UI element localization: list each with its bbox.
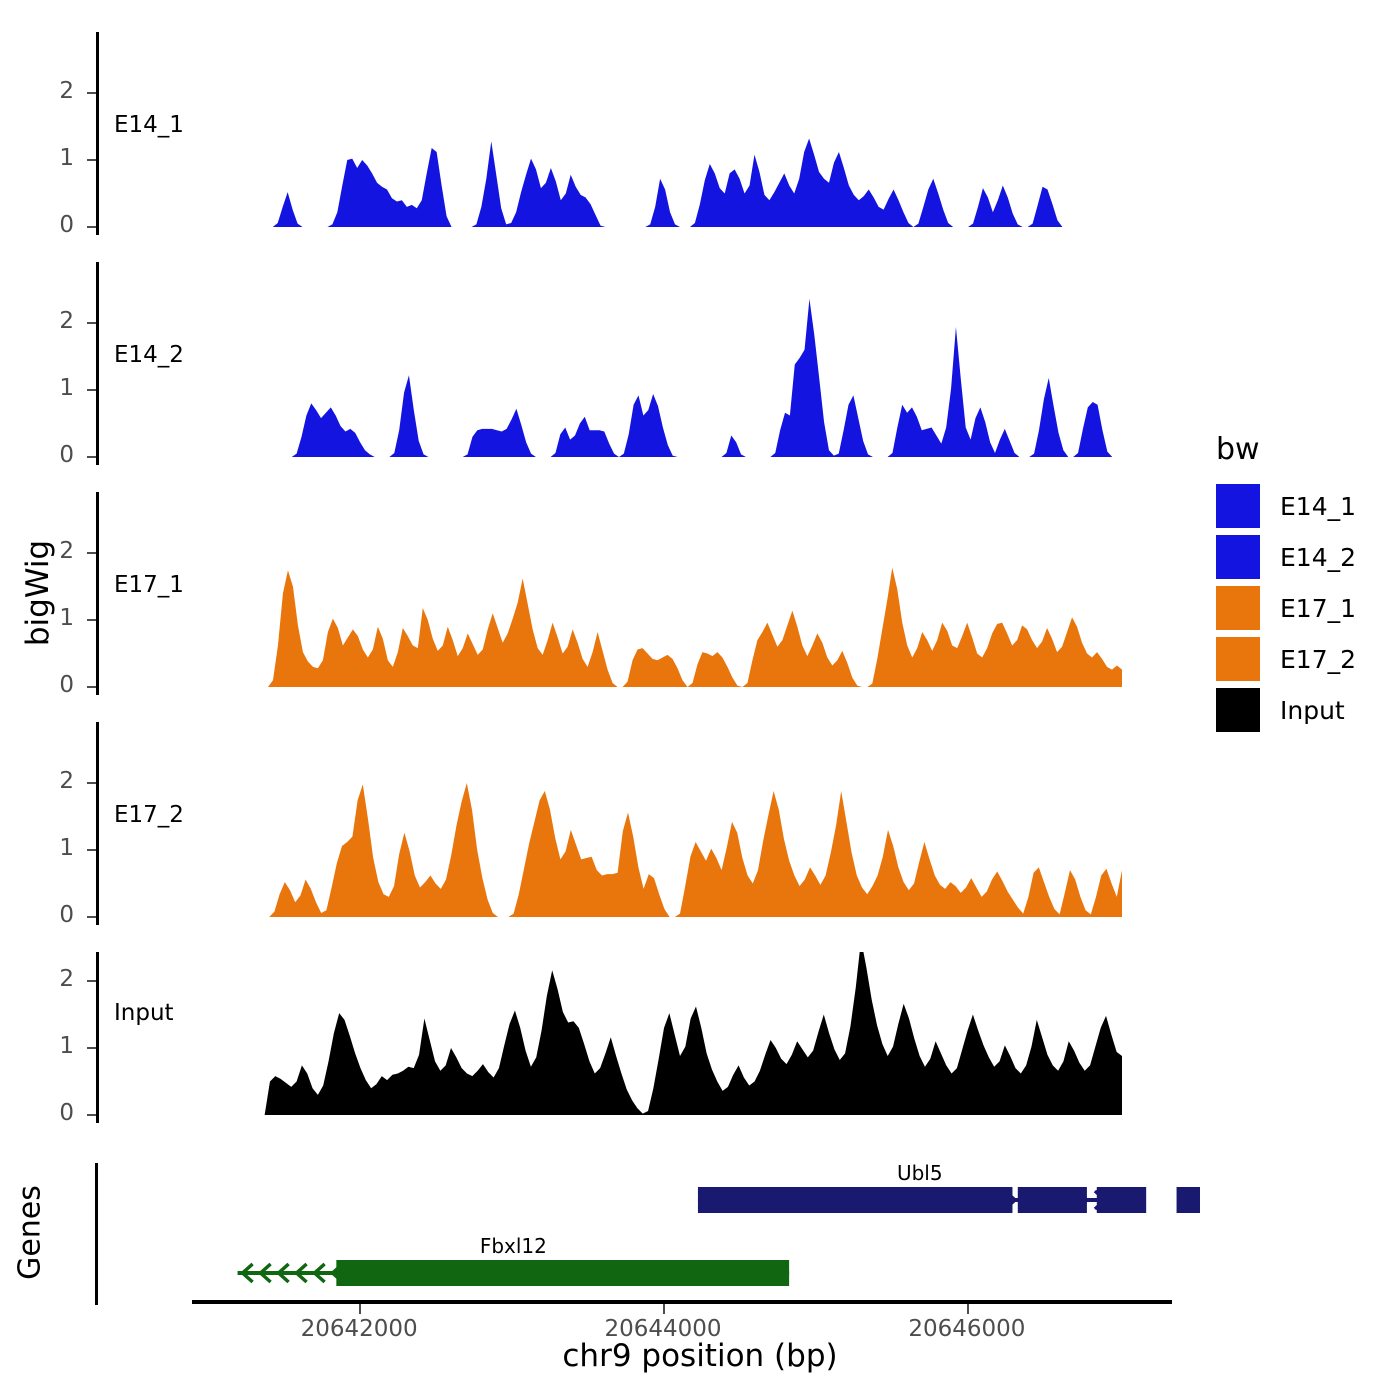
genes-svg: Ubl5Fbxl12: [0, 1155, 1200, 1305]
signal-track-input: [0, 952, 1200, 1123]
legend-item-e17_1[interactable]: E17_1: [1216, 586, 1356, 630]
gene-label-fbxl12: Fbxl12: [480, 1234, 547, 1258]
legend-label-e14_2: E14_2: [1280, 543, 1356, 572]
legend-swatch-e17_1: [1216, 586, 1260, 630]
signal-track-e14_2: [0, 262, 1200, 465]
x-axis-line: [192, 1300, 1172, 1304]
gene-label-ubl5: Ubl5: [897, 1161, 943, 1185]
legend-swatch-e14_1: [1216, 484, 1260, 528]
signal-track-e17_2: [0, 722, 1200, 925]
x-tick-20646000: [967, 1304, 969, 1314]
legend-item-input[interactable]: Input: [1216, 688, 1345, 732]
x-tick-20644000: [663, 1304, 665, 1314]
gene-exon-ubl5-4: [1177, 1187, 1200, 1213]
gene-exon-ubl5-1: [698, 1187, 1013, 1213]
bigwig-panel-e14_2: 012E14_2: [0, 262, 1200, 465]
bigwig-panel-e17_2: 012E17_2: [0, 722, 1200, 925]
legend-swatch-e14_2: [1216, 535, 1260, 579]
legend-label-input: Input: [1280, 696, 1345, 725]
genes-panel: Ubl5Fbxl12: [0, 1155, 1200, 1305]
bigwig-panel-e17_1: 012E17_1: [0, 492, 1200, 695]
legend-label-e17_1: E17_1: [1280, 594, 1356, 623]
legend-item-e17_2[interactable]: E17_2: [1216, 637, 1356, 681]
bigwig-panel-input: 012Input: [0, 952, 1200, 1123]
legend-label-e14_1: E14_1: [1280, 492, 1356, 521]
bigwig-panel-e14_1: 012E14_1: [0, 32, 1200, 235]
x-tick-20642000: [359, 1304, 361, 1314]
legend-label-e17_2: E17_2: [1280, 645, 1356, 674]
signal-track-e14_1: [0, 32, 1200, 235]
x-axis-title: chr9 position (bp): [0, 1338, 1400, 1374]
legend-item-e14_2[interactable]: E14_2: [1216, 535, 1356, 579]
legend-swatch-e17_2: [1216, 637, 1260, 681]
genes-track-area: Ubl5Fbxl12: [0, 1155, 1200, 1305]
gene-exon-fbxl12-1: [336, 1260, 789, 1286]
gene-exon-ubl5-2: [1018, 1187, 1087, 1213]
legend-item-e14_1[interactable]: E14_1: [1216, 484, 1356, 528]
gene-exon-ubl5-3: [1097, 1187, 1146, 1213]
legend-swatch-input: [1216, 688, 1260, 732]
legend-title: bw: [1216, 432, 1260, 467]
signal-track-e17_1: [0, 492, 1200, 695]
